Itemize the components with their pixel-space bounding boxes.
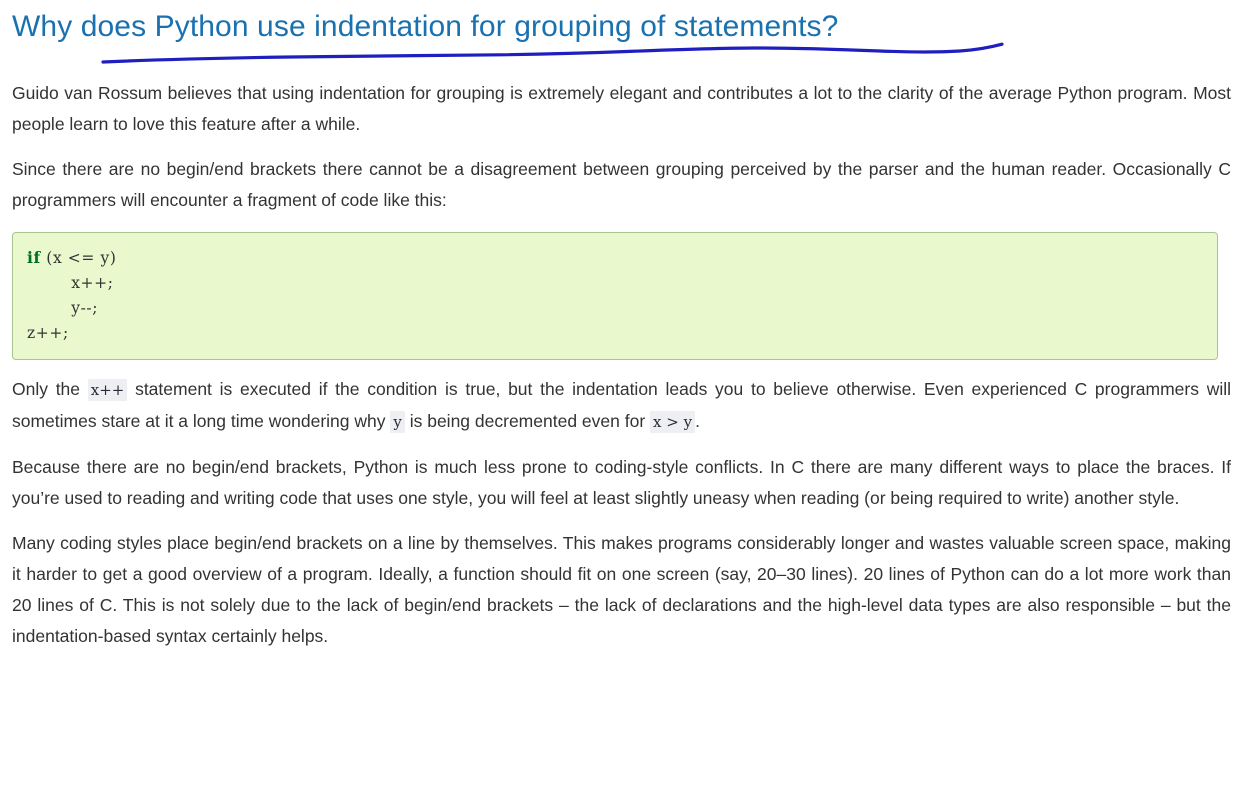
paragraph-3-text-c: is being decremented even for <box>405 411 650 431</box>
paragraph-2: Since there are no begin/end brackets th… <box>12 140 1231 216</box>
paragraph-3-text-d: . <box>695 411 700 431</box>
paragraph-4: Because there are no begin/end brackets,… <box>12 438 1231 514</box>
code-keyword-if: if <box>27 248 41 267</box>
paragraph-1: Guido van Rossum believes that using ind… <box>12 62 1231 140</box>
paragraph-3: Only the x++ statement is executed if th… <box>12 360 1231 438</box>
code-line-3: y--; <box>27 299 98 317</box>
code-line-1-rest: (x <= y) <box>41 249 117 267</box>
paragraph-5: Many coding styles place begin/end brack… <box>12 514 1231 652</box>
inline-code-x-greater-y: x > y <box>650 411 695 433</box>
article-body: Guido van Rossum believes that using ind… <box>0 62 1243 652</box>
code-block-c-example: if (x <= y) x++; y--; z++; <box>12 232 1218 360</box>
page-title: Why does Python use indentation for grou… <box>12 8 1231 46</box>
code-line-4: z++; <box>27 324 69 342</box>
title-container: Why does Python use indentation for grou… <box>0 0 1243 62</box>
article-page: Why does Python use indentation for grou… <box>0 0 1243 652</box>
code-content: if (x <= y) x++; y--; z++; <box>27 245 1203 346</box>
code-line-2: x++; <box>27 274 114 292</box>
inline-code-x-increment: x++ <box>88 379 128 401</box>
inline-code-y: y <box>390 411 404 433</box>
paragraph-3-text-a: Only the <box>12 379 88 399</box>
